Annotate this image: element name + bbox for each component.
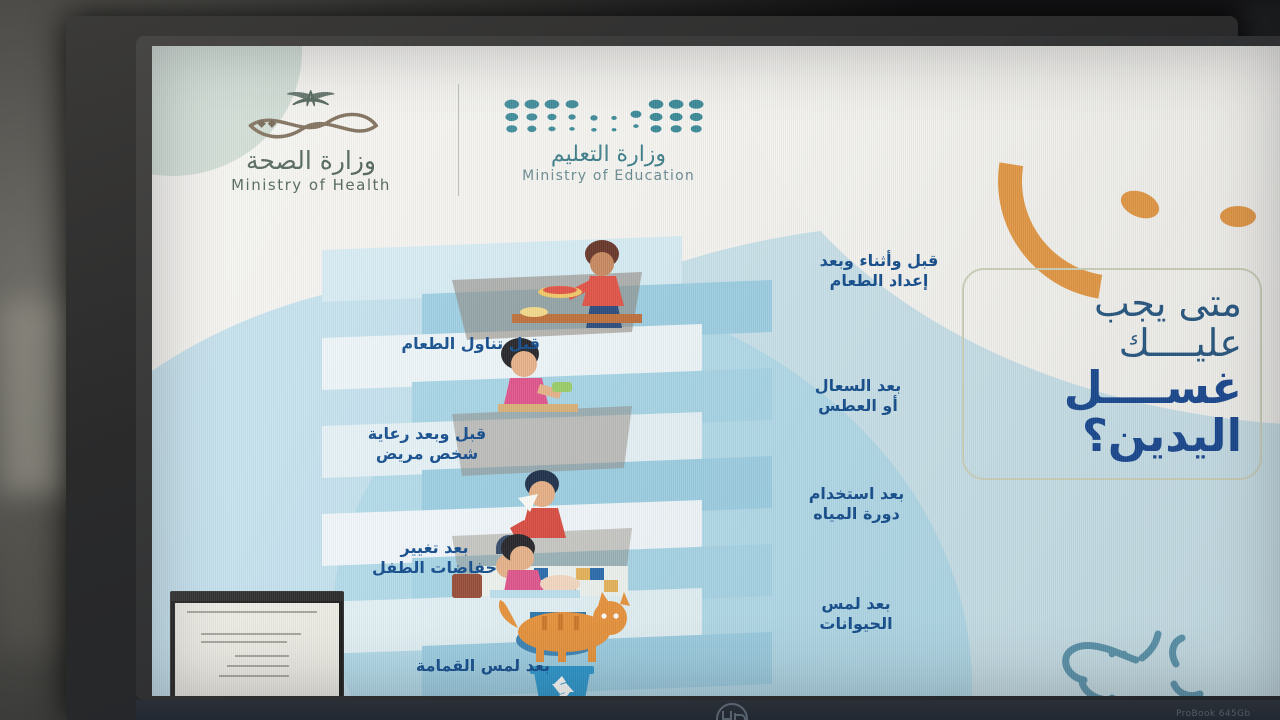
headline-line-3: غســــل bbox=[982, 364, 1242, 412]
headline-line-1: متى يجب bbox=[982, 284, 1242, 324]
ministry-of-health-logo: وزارة الصحة Ministry of Health bbox=[186, 86, 436, 194]
moh-label-arabic: وزارة الصحة bbox=[186, 146, 436, 175]
mini-window-document-page bbox=[175, 603, 339, 696]
moe-label-arabic: وزارة التعليم bbox=[481, 142, 736, 167]
list-item-label-5: بعد استخدام دورة المياه bbox=[759, 484, 954, 525]
list-item-label-6: بعد تغيير حفاضات الطفل bbox=[322, 538, 547, 579]
presentation-slide[interactable]: وزارة الصحة Ministry of Health bbox=[152, 46, 1280, 696]
mini-window-titlebar[interactable] bbox=[171, 592, 343, 601]
list-item-label-3: بعد السعال أو العطس bbox=[768, 376, 948, 417]
background-object-lower-left bbox=[0, 500, 70, 650]
laptop-model-label: ProBook 645Gb bbox=[1176, 709, 1251, 719]
dot-matrix-icon bbox=[499, 96, 718, 138]
moh-label-english: Ministry of Health bbox=[186, 176, 436, 194]
list-item-label-7: بعد لمس الحيوانات bbox=[766, 594, 946, 635]
laptop-screen[interactable]: وزارة الصحة Ministry of Health bbox=[152, 46, 1280, 696]
background-document-window[interactable] bbox=[170, 591, 344, 696]
laptop-body: وزارة الصحة Ministry of Health bbox=[66, 16, 1238, 720]
list-item-label-1: قبل وأثناء وبعد إعداد الطعام bbox=[774, 251, 984, 292]
screenshot-scene: وزارة الصحة Ministry of Health bbox=[0, 0, 1280, 720]
laptop-chin-bar: ProBook 645Gb bbox=[136, 700, 1280, 720]
ministry-of-education-logo: وزارة التعليم Ministry of Education bbox=[481, 96, 736, 184]
moe-label-english: Ministry of Education bbox=[481, 168, 736, 184]
list-item-label-4: قبل وبعد رعاية شخص مريض bbox=[302, 424, 552, 465]
live-healthy-watermark bbox=[1050, 628, 1260, 696]
headline-line-4: اليدين؟ bbox=[982, 412, 1242, 460]
hp-logo-icon bbox=[710, 703, 754, 720]
list-item-label-2: قبل تناول الطعام bbox=[300, 334, 540, 354]
decorative-orange-dot-1 bbox=[1220, 206, 1256, 227]
cat-icon bbox=[499, 592, 630, 662]
slide-headline: متى يجب عليــــك غســــل اليدين؟ bbox=[962, 268, 1262, 480]
logo-row: وزارة الصحة Ministry of Health bbox=[186, 84, 736, 196]
logo-divider bbox=[458, 84, 459, 196]
headline-line-2: عليــــك bbox=[982, 324, 1242, 364]
palm-and-swords-icon bbox=[216, 86, 405, 148]
